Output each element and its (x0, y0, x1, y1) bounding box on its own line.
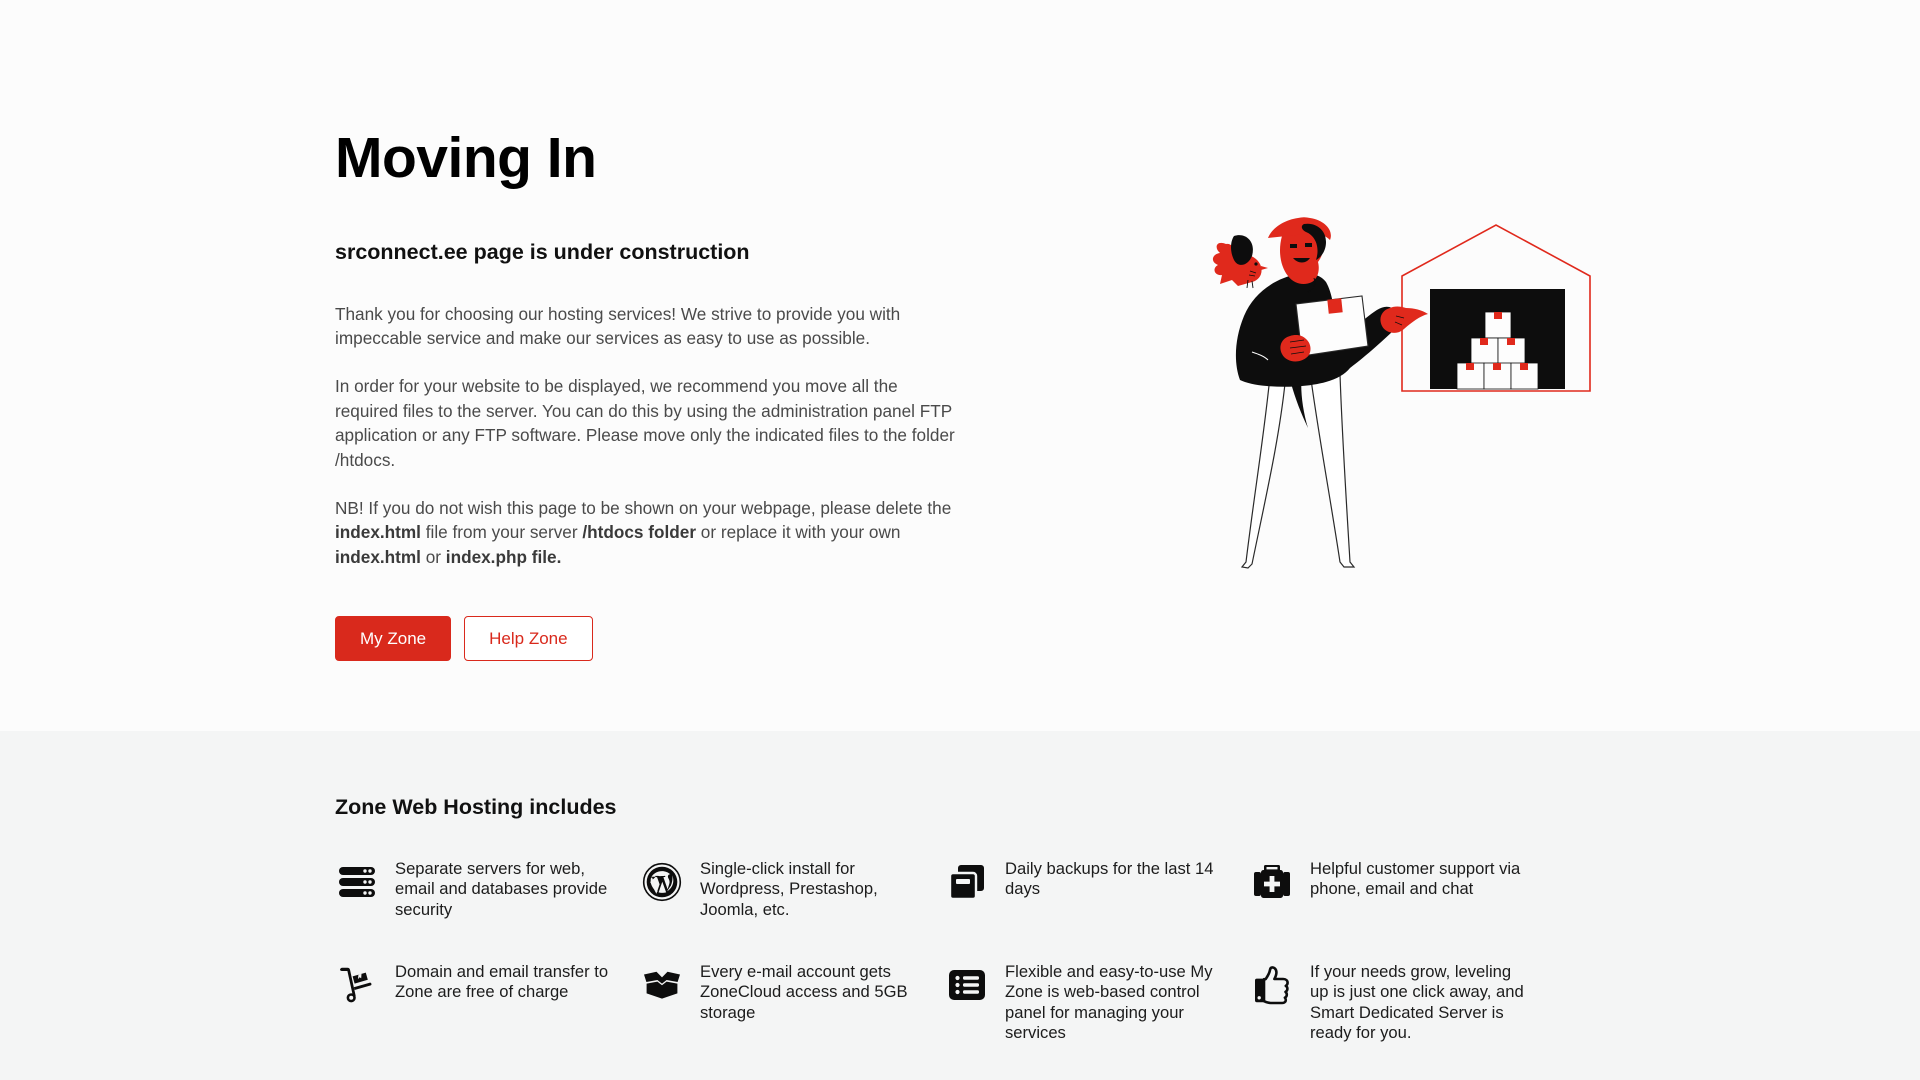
hero-paragraph-3: NB! If you do not wish this page to be s… (335, 496, 957, 569)
feature-item: Daily backups for the last 14 days (945, 858, 1250, 961)
open-box-icon (640, 963, 684, 1007)
nb-bold-index-html-1: index.html (335, 522, 421, 542)
feature-text: Every e-mail account gets ZoneCloud acce… (700, 961, 921, 1023)
bird-icon (1213, 235, 1268, 288)
features-grid: Separate servers for web, email and data… (335, 858, 1585, 1064)
nb-text-3: or replace it with your own (696, 522, 900, 542)
hero-paragraph-2: In order for your website to be displaye… (335, 374, 957, 472)
help-zone-button[interactable]: Help Zone (464, 616, 592, 661)
feature-item: Domain and email transfer to Zone are fr… (335, 961, 640, 1064)
hero-subtitle: srconnect.ee page is under construction (335, 238, 975, 267)
person-legs (1242, 372, 1354, 568)
nb-bold-htdocs-folder: /htdocs folder (582, 522, 696, 542)
hero-copy-block: Moving In srconnect.ee page is under con… (335, 128, 975, 661)
feature-text: Helpful customer support via phone, emai… (1310, 858, 1531, 900)
bullet-list-icon (945, 963, 989, 1007)
hero-paragraph-1: Thank you for choosing our hosting servi… (335, 302, 957, 351)
my-zone-button[interactable]: My Zone (335, 616, 451, 661)
feature-item: Helpful customer support via phone, emai… (1250, 858, 1555, 961)
copy-backup-icon (945, 860, 989, 904)
hero-button-row: My Zone Help Zone (335, 616, 975, 661)
feature-item: Flexible and easy-to-use My Zone is web-… (945, 961, 1250, 1064)
feature-item: Single-click install for Wordpress, Pres… (640, 858, 945, 961)
wordpress-icon (640, 860, 684, 904)
features-title: Zone Web Hosting includes (335, 731, 1585, 820)
server-rack-icon (335, 860, 379, 904)
feature-text: Flexible and easy-to-use My Zone is web-… (1005, 961, 1226, 1044)
feature-text: Domain and email transfer to Zone are fr… (395, 961, 616, 1003)
feature-text: Single-click install for Wordpress, Pres… (700, 858, 921, 920)
feature-text: Daily backups for the last 14 days (1005, 858, 1226, 900)
nb-text-2: file from your server (421, 522, 582, 542)
hero-body-copy: Thank you for choosing our hosting servi… (335, 302, 957, 570)
feature-item: If your needs grow, leveling up is just … (1250, 961, 1555, 1064)
nb-bold-index-php-file: index.php file. (446, 547, 562, 567)
nb-text-4: or (421, 547, 446, 567)
feature-text: Separate servers for web, email and data… (395, 858, 616, 920)
hand-truck-dolly-icon (335, 963, 379, 1007)
first-aid-kit-icon (1250, 860, 1294, 904)
moving-in-delivery-person-illustration (1190, 196, 1610, 596)
features-section: Zone Web Hosting includes Separate serve… (0, 731, 1920, 1080)
feature-item: Every e-mail account gets ZoneCloud acce… (640, 961, 945, 1064)
feature-text: If your needs grow, leveling up is just … (1310, 961, 1531, 1044)
nb-bold-index-html-2: index.html (335, 547, 421, 567)
nb-text-1: NB! If you do not wish this page to be s… (335, 498, 951, 518)
thumbs-up-icon (1250, 963, 1294, 1007)
page-title: Moving In (335, 128, 975, 190)
feature-item: Separate servers for web, email and data… (335, 858, 640, 961)
hero-section: Moving In srconnect.ee page is under con… (0, 0, 1920, 731)
